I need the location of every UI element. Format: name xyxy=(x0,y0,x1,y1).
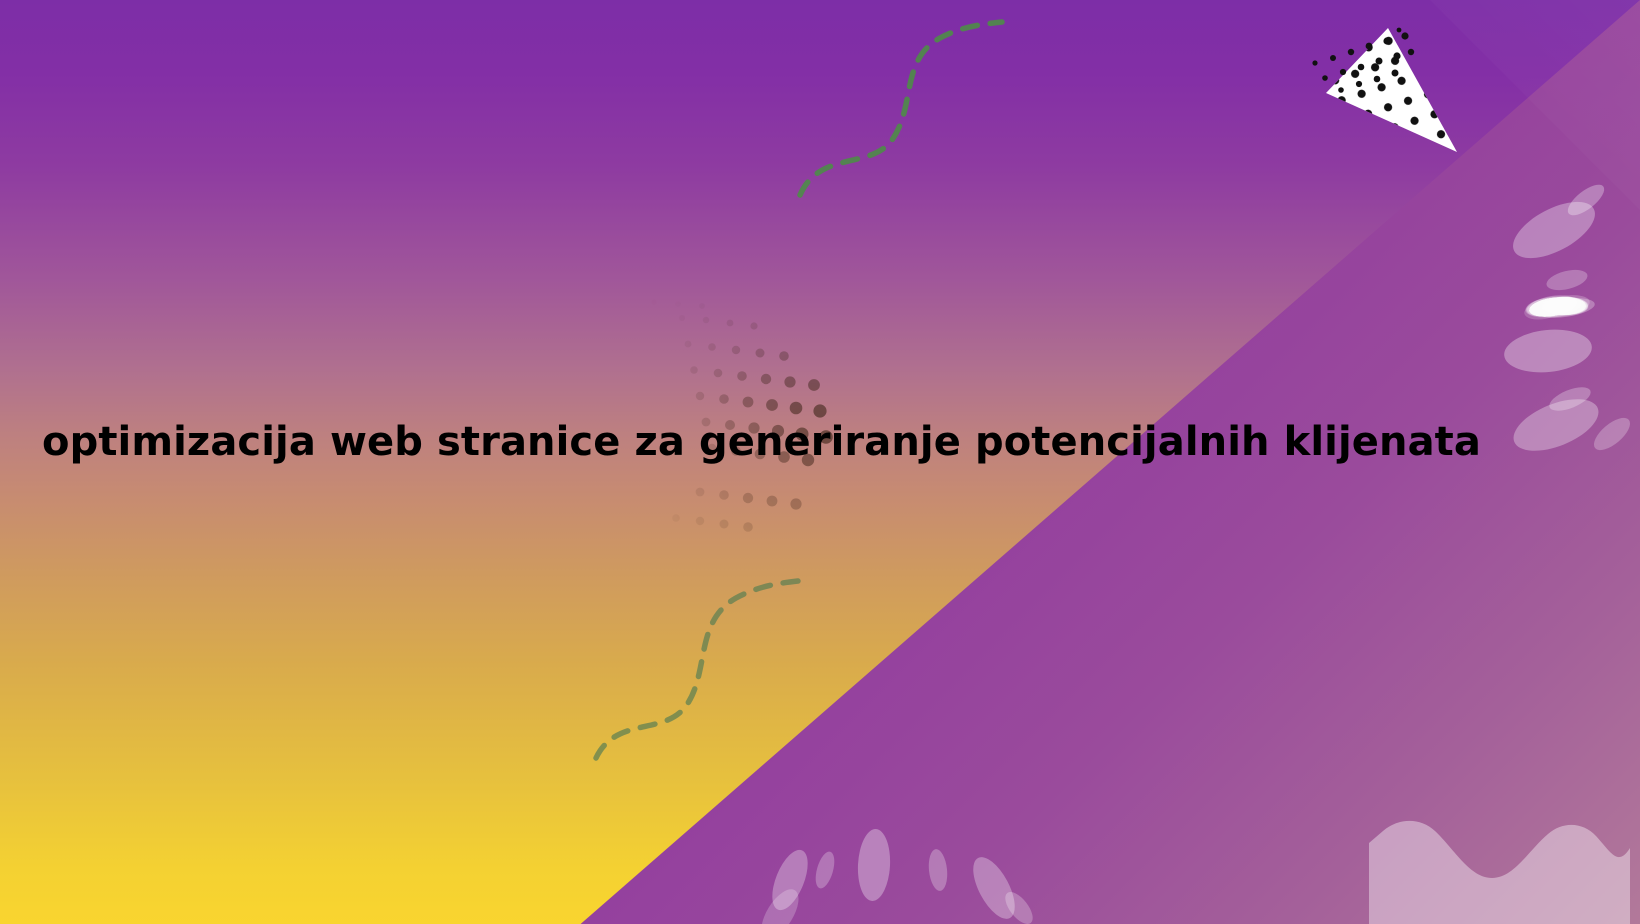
banner-canvas: optimizacija web stranice za generiranje… xyxy=(0,0,1640,924)
page-title: optimizacija web stranice za generiranje… xyxy=(42,413,1602,471)
